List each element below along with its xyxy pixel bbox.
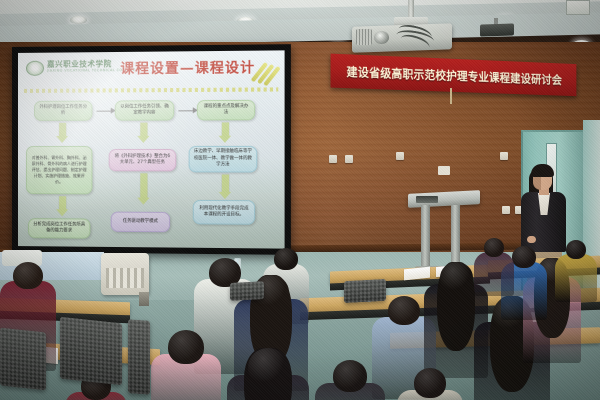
audience-member-head	[248, 348, 288, 386]
audience-member-head	[566, 240, 586, 259]
audience-member	[474, 238, 514, 301]
audience-member-head	[13, 262, 43, 289]
chair	[128, 319, 150, 395]
audience-member-head	[484, 238, 504, 257]
flow-box-8: 任务驱动教学模式	[111, 212, 170, 233]
flow-arrow-h	[178, 110, 192, 111]
banner-text: 建设省级高职示范校护理专业课程建设研讨会	[346, 63, 562, 87]
wall-socket	[329, 155, 337, 163]
audience-member-torso	[555, 254, 597, 302]
podium-leg	[421, 205, 430, 268]
flow-arrow-down	[222, 175, 229, 193]
chair	[344, 279, 386, 303]
flow-box-9: 利用现代化教学手段完成本课程的开设目标。	[193, 200, 255, 225]
downlight-icon	[70, 16, 87, 24]
banner-hook	[450, 88, 452, 104]
flow-arrow-down	[59, 123, 66, 137]
flow-arrow-down	[59, 196, 66, 210]
audience-member-head	[388, 296, 420, 325]
flow-arrow-down	[222, 122, 229, 136]
presenter-hand	[527, 236, 536, 243]
audience-member-head	[440, 262, 473, 293]
flow-box-1: 外科护理岗位工作任务分析	[34, 101, 92, 121]
flow-box-7: 分析完成岗位工作任务所具备的能力要求	[28, 218, 90, 239]
flow-arrow-h	[97, 111, 111, 112]
audience-member	[315, 360, 385, 400]
audience-member-head	[168, 330, 204, 364]
wall-socket	[502, 206, 510, 214]
flow-box-2: 以岗位工作任务引领、确定教学内容	[115, 100, 174, 120]
audience-member-torso	[474, 252, 514, 296]
chair	[0, 328, 46, 391]
projector-vent	[356, 29, 372, 45]
chair	[60, 317, 122, 386]
audience-member-head	[414, 368, 446, 398]
slide-decoration	[255, 61, 276, 88]
flow-box-5: 将《外科护理技术》整合为6大单元、27个典型任务	[109, 149, 177, 171]
audience-member	[397, 368, 463, 400]
college-logo-icon	[26, 61, 44, 76]
slide-divider	[24, 87, 278, 93]
presenter-hair-front	[531, 164, 554, 177]
slide-header: 嘉兴职业技术学院 JIAXING VOCATIONAL TECHNICAL CO…	[26, 56, 276, 88]
audience-member	[555, 240, 597, 307]
projection-screen: 嘉兴职业技术学院 JIAXING VOCATIONAL TECHNICAL CO…	[18, 50, 285, 248]
flow-arrow-down	[140, 173, 147, 198]
bed-leg	[139, 292, 149, 306]
slide-title: 课程设置—课程设计	[120, 56, 255, 77]
podium-leg	[451, 205, 460, 268]
flow-arrow-down	[140, 123, 147, 137]
audience-member-head	[274, 248, 298, 270]
wall-socket	[396, 152, 404, 160]
bed-rail-slots	[106, 268, 144, 288]
conference-room-photo: 建设省级高职示范校护理专业课程建设研讨会 嘉兴职业技术学院 JIAXING VO…	[0, 0, 600, 400]
projection-screen-frame: 嘉兴职业技术学院 JIAXING VOCATIONAL TECHNICAL CO…	[12, 44, 291, 255]
flow-box-6: 床边教学、早期接触临床等学校医院一体、教学做一体的教学方法	[189, 146, 258, 173]
wall-socket	[500, 152, 508, 160]
wall-plate	[438, 166, 450, 175]
ceiling-fixture	[566, 0, 590, 15]
ceiling-speaker-icon	[480, 23, 514, 36]
audience-member	[151, 330, 221, 400]
projector-lens	[374, 31, 389, 44]
flow-box-3: 课程的重点点及解决办法	[197, 100, 255, 121]
wall-socket	[345, 155, 353, 163]
chair	[230, 281, 264, 301]
audience-member	[227, 348, 309, 400]
podium-control-panel[interactable]	[416, 196, 438, 203]
flow-box-4: 对普外科、胃外科、胸外科、泌尿外科、骨外科的病人进行护理评估、提出护理问题、制定…	[26, 146, 92, 194]
audience-member-head	[333, 360, 367, 392]
audience-member-head	[512, 246, 536, 268]
